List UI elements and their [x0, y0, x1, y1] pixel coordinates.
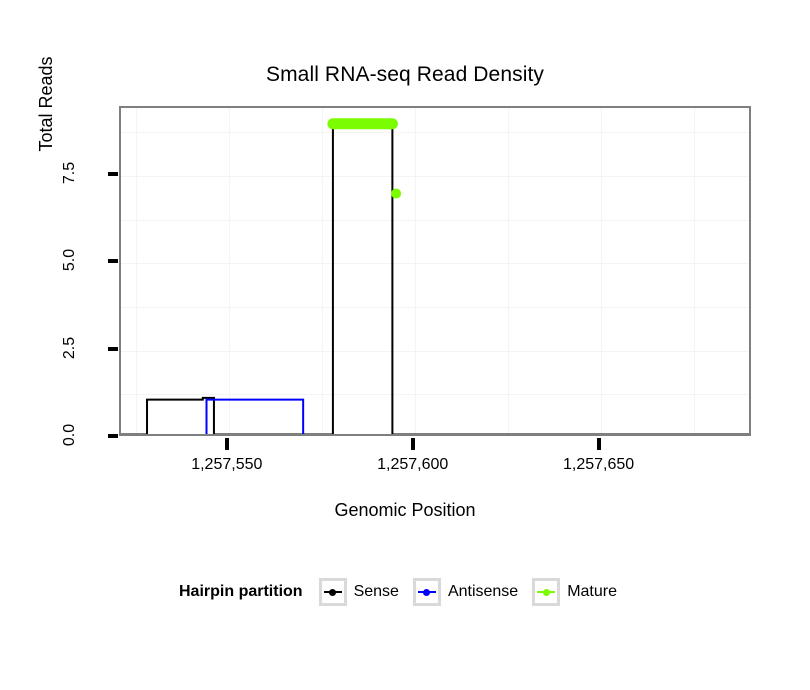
mature-data-point — [391, 189, 401, 199]
x-axis-tick — [225, 438, 229, 450]
y-axis-tick-label: 5.0 — [61, 230, 79, 290]
legend-key-sense — [319, 578, 347, 606]
x-axis-tick — [597, 438, 601, 450]
legend-entry-antisense[interactable]: Antisense — [413, 578, 518, 606]
legend-key-mature — [532, 578, 560, 606]
y-axis-tick-label: 7.5 — [61, 143, 79, 203]
y-axis-title: Total Reads — [36, 4, 58, 204]
y-axis-tick — [108, 259, 118, 263]
legend-title: Hairpin partition — [179, 583, 303, 601]
data-series-layer — [121, 108, 749, 434]
x-axis-tick-label: 1,257,650 — [529, 456, 669, 474]
series-line-antisense — [121, 400, 749, 434]
y-axis-tick-label: 0.0 — [61, 405, 79, 465]
x-axis-tick-label: 1,257,550 — [157, 456, 297, 474]
legend-key-dot — [543, 589, 550, 596]
legend-key-dot — [423, 589, 430, 596]
series-line-sense — [121, 124, 749, 434]
y-axis-tick — [108, 434, 118, 438]
x-axis-title: Genomic Position — [0, 500, 810, 521]
legend: Hairpin partition SenseAntisenseMature — [0, 578, 810, 606]
legend-label: Mature — [567, 583, 617, 601]
legend-key-antisense — [413, 578, 441, 606]
chart-container: Small RNA-seq Read Density Total Reads G… — [0, 0, 810, 690]
x-axis-tick — [411, 438, 415, 450]
legend-entry-mature[interactable]: Mature — [532, 578, 617, 606]
y-axis-tick — [108, 172, 118, 176]
legend-label: Sense — [354, 583, 399, 601]
plot-panel — [119, 106, 751, 436]
y-axis-tick-label: 2.5 — [61, 318, 79, 378]
legend-entry-sense[interactable]: Sense — [319, 578, 399, 606]
legend-label: Antisense — [448, 583, 518, 601]
x-axis-tick-label: 1,257,600 — [343, 456, 483, 474]
plot-area — [121, 108, 749, 434]
page-title: Small RNA-seq Read Density — [0, 63, 810, 87]
legend-key-dot — [329, 589, 336, 596]
y-axis-tick — [108, 347, 118, 351]
